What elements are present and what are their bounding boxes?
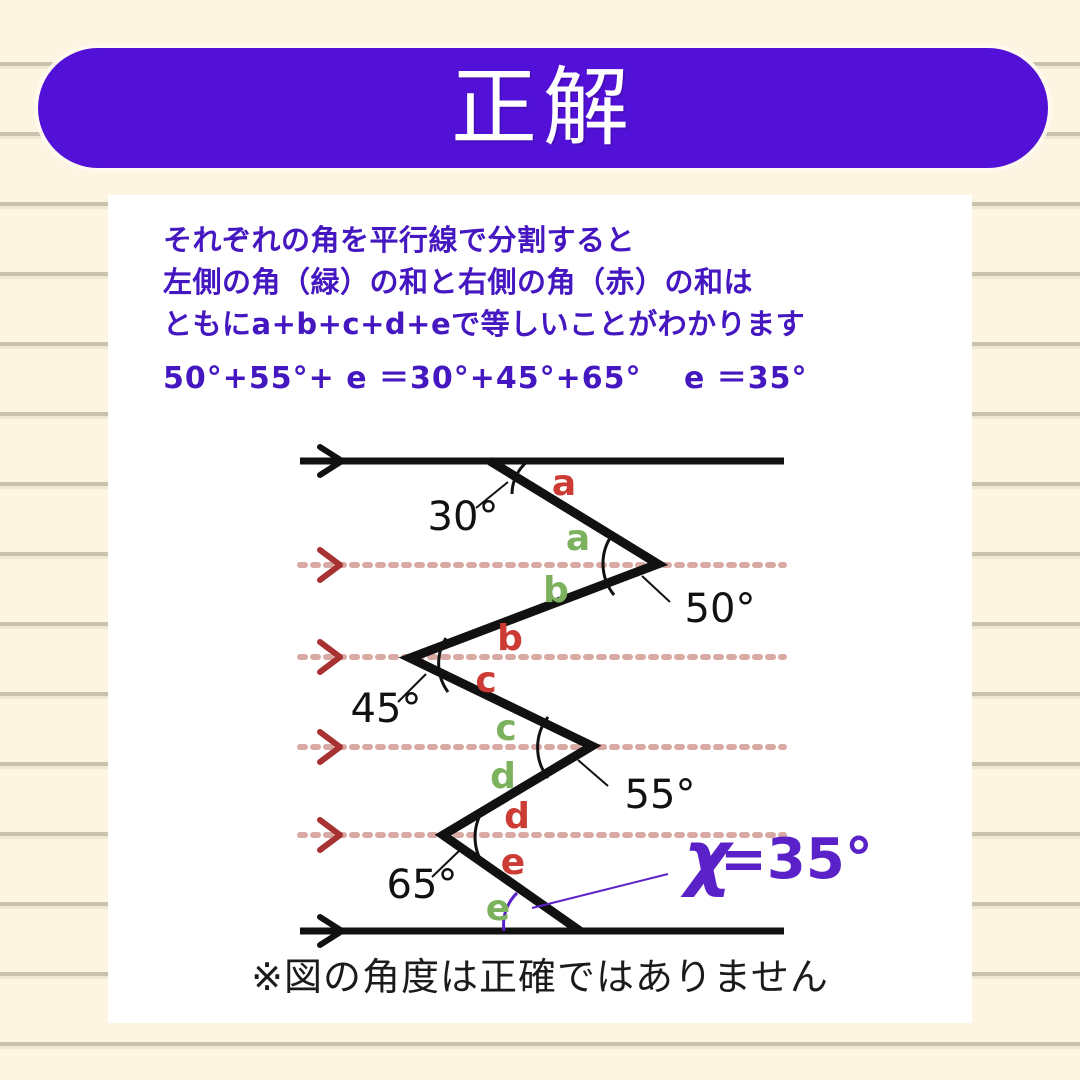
figure-disclaimer-note: ※図の角度は正確ではありません (108, 946, 972, 1001)
explanation-line-3: ともにa+b+c+d+eで等しいことがわかります (163, 304, 953, 346)
explanation-text-block: それぞれの角を平行線で分割すると 左側の角（緑）の和と右側の角（赤）の和は とも… (163, 220, 953, 400)
angle-value-50: 50° (685, 586, 756, 632)
leader-line-55 (578, 760, 608, 786)
dotted-parallel-line-1 (300, 550, 784, 580)
top-parallel-line (300, 447, 784, 475)
banner-title: 正解 (451, 65, 635, 151)
red-label-e: e (501, 842, 525, 883)
green-label-c: c (495, 708, 516, 749)
green-label-e: e (486, 888, 510, 929)
dotted-parallel-line-3 (300, 732, 784, 762)
red-label-c: c (475, 660, 496, 701)
red-label-a: a (552, 463, 576, 504)
angle-value-55: 55° (625, 772, 696, 818)
leader-line-50 (642, 576, 670, 602)
geometry-diagram: 30° 50° 45° 55° 65° a b c d e a b c d e … (108, 430, 972, 950)
angle-value-30: 30° (428, 494, 499, 540)
explanation-line-2: 左側の角（緑）の和と右側の角（赤）の和は (163, 262, 953, 304)
leader-line-x (532, 874, 668, 908)
explanation-line-1: それぞれの角を平行線で分割すると (163, 220, 953, 262)
green-label-d: d (490, 756, 516, 797)
red-label-b: b (497, 618, 523, 659)
red-label-d: d (504, 796, 530, 837)
green-label-b: b (543, 570, 569, 611)
angle-value-65: 65° (387, 862, 458, 908)
angle-value-45: 45° (351, 686, 422, 732)
dotted-parallel-line-2 (300, 642, 784, 672)
green-label-a: a (566, 518, 590, 559)
answer-banner: 正解 (38, 48, 1048, 168)
content-card: それぞれの角を平行線で分割すると 左側の角（緑）の和と右側の角（赤）の和は とも… (108, 195, 972, 1023)
bottom-parallel-line (300, 917, 784, 945)
answer-value: =35° (720, 827, 873, 892)
explanation-equation: 50°+55°+ e ＝30°+45°+65° e ＝35° (163, 357, 953, 400)
